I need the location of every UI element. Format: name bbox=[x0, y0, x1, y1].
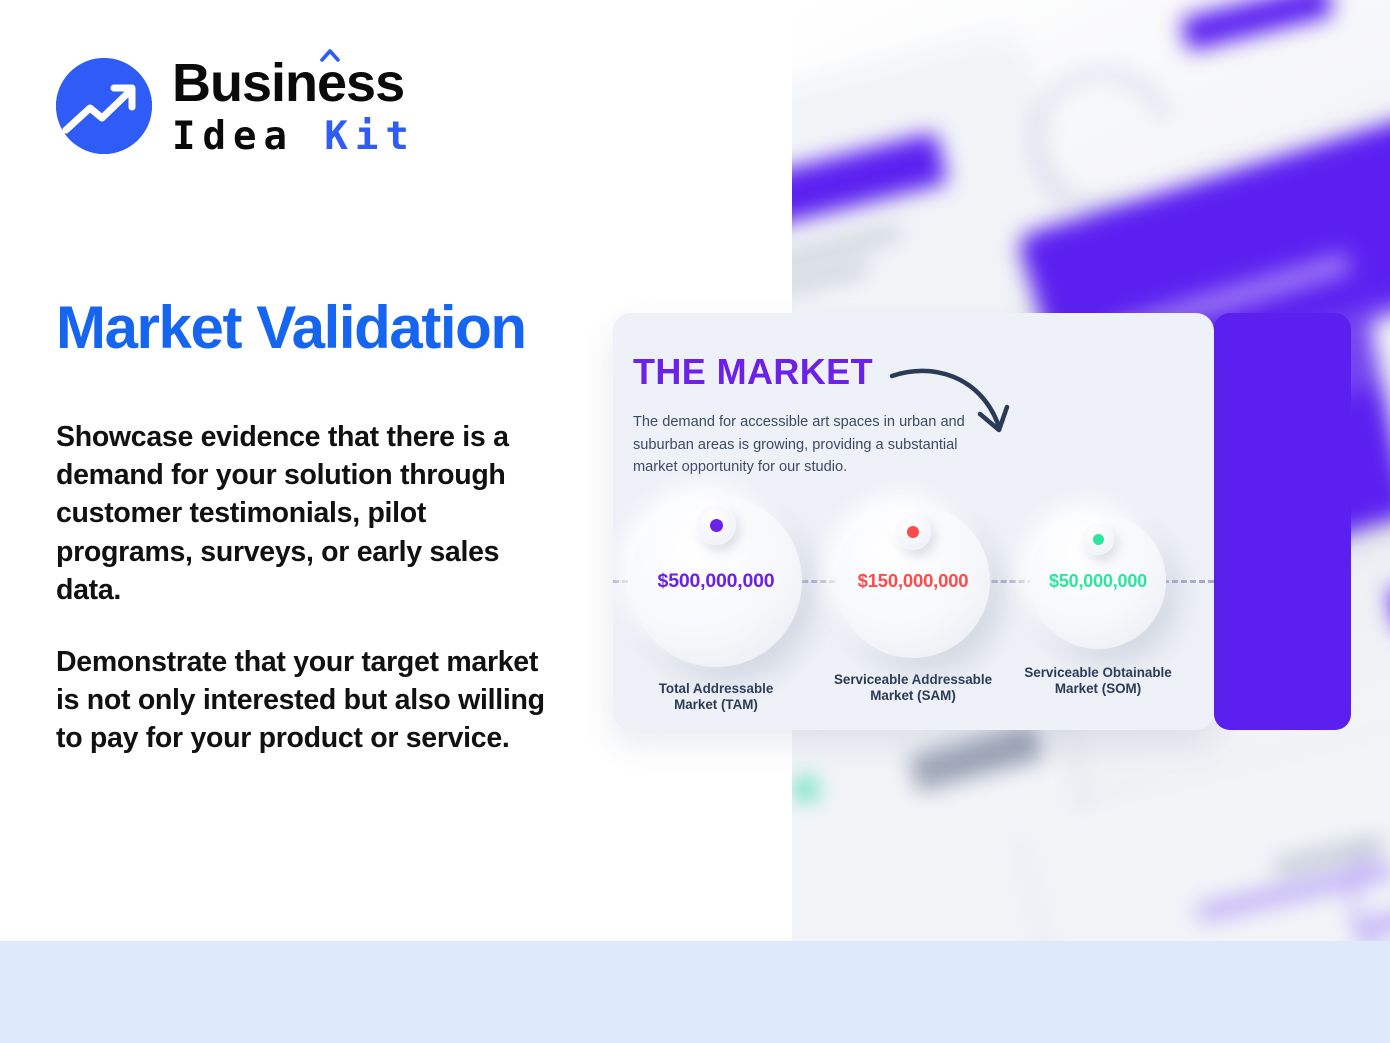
brand-logo[interactable]: Business Idea Kit bbox=[56, 56, 416, 156]
bubble-shape-sam: $150,000,000 bbox=[836, 504, 990, 658]
market-card-title: THE MARKET bbox=[633, 351, 873, 393]
market-label-som-line2: Market (SOM) bbox=[1003, 681, 1193, 697]
market-bubble-sam[interactable]: $150,000,000 Serviceable Addressable Mar… bbox=[818, 495, 1008, 704]
bottom-color-band bbox=[0, 941, 1390, 1043]
status-dot-icon-sam bbox=[895, 514, 931, 550]
market-bubble-tam[interactable]: $500,000,000 Total Addressable Market (T… bbox=[621, 495, 811, 713]
status-dot-icon-tam bbox=[696, 505, 736, 545]
market-label-sam-line1: Serviceable Addressable bbox=[818, 672, 1008, 688]
market-label-tam-line1: Total Addressable bbox=[621, 681, 811, 697]
market-amount-sam: $150,000,000 bbox=[858, 570, 969, 592]
bubble-shape-tam: $500,000,000 bbox=[630, 495, 802, 667]
brand-name-kit: Kit bbox=[324, 114, 415, 159]
market-bubble-group: $500,000,000 Total Addressable Market (T… bbox=[613, 495, 1214, 730]
bubble-shape-som: $50,000,000 bbox=[1030, 513, 1166, 649]
market-label-sam-line2: Market (SAM) bbox=[818, 688, 1008, 704]
page-title: Market Validation bbox=[56, 296, 526, 359]
market-card: THE MARKET The demand for accessible art… bbox=[613, 313, 1214, 730]
brand-name-secondary: Idea Kit bbox=[172, 117, 416, 156]
curved-down-arrow-icon bbox=[888, 358, 1023, 448]
status-dot-icon-som bbox=[1082, 523, 1114, 555]
slide-canvas: Business Idea Kit Market Validation Show… bbox=[0, 0, 1390, 1043]
brand-name-idea: Idea bbox=[172, 114, 294, 159]
market-label-som: Serviceable Obtainable Market (SOM) bbox=[1003, 665, 1193, 697]
market-label-som-line1: Serviceable Obtainable bbox=[1003, 665, 1193, 681]
brand-name-primary: Business bbox=[172, 56, 416, 110]
body-copy: Showcase evidence that there is a demand… bbox=[56, 418, 566, 758]
market-amount-som: $50,000,000 bbox=[1049, 571, 1147, 592]
market-label-tam: Total Addressable Market (TAM) bbox=[621, 681, 811, 713]
market-label-sam: Serviceable Addressable Market (SAM) bbox=[818, 672, 1008, 704]
brand-name-primary-text: Business bbox=[172, 53, 404, 113]
market-label-tam-line2: Market (TAM) bbox=[621, 697, 811, 713]
trending-up-arrow-icon bbox=[56, 58, 152, 154]
body-paragraph-1: Showcase evidence that there is a demand… bbox=[56, 418, 566, 609]
brand-chevron-accent-icon bbox=[320, 49, 340, 62]
market-bubble-som[interactable]: $50,000,000 Serviceable Obtainable Marke… bbox=[1003, 495, 1193, 697]
market-amount-tam: $500,000,000 bbox=[658, 570, 775, 593]
purple-accent-block bbox=[1214, 313, 1351, 730]
body-paragraph-2: Demonstrate that your target market is n… bbox=[56, 643, 566, 758]
